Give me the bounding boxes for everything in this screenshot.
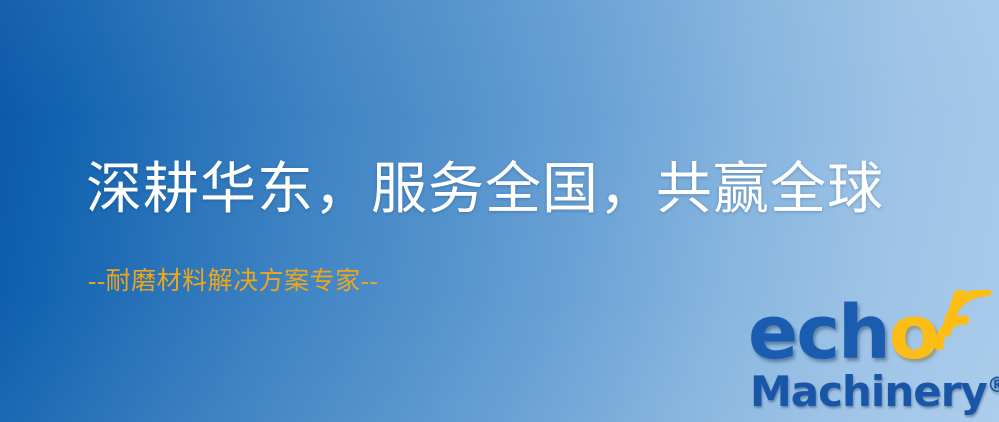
logo-subtext: Machinery® (750, 362, 999, 415)
banner-headline: 深耕华东，服务全国，共赢全球 (86, 155, 884, 225)
banner-subtitle: --耐磨材料解决方案专家-- (88, 266, 378, 298)
signal-waves-icon (933, 290, 999, 352)
registered-trademark-icon: ® (987, 373, 999, 397)
logo-subtext-label: Machinery (750, 367, 987, 416)
echo-machinery-logo: echo Machinery® (748, 296, 996, 418)
promo-banner: 深耕华东，服务全国，共赢全球 --耐磨材料解决方案专家-- echo Machi… (0, 0, 999, 422)
logo-wordmark: echo (748, 296, 938, 370)
